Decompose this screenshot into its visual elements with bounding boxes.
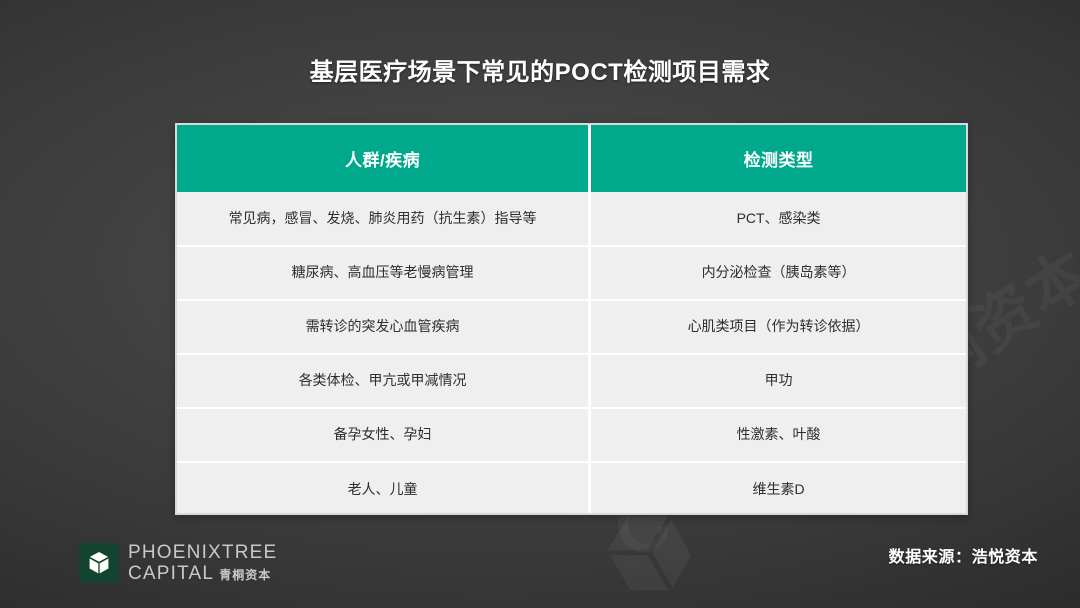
requirements-table: 人群/疾病 检测类型 常见病，感冒、发烧、肺炎用药（抗生素）指导等 PCT、感染… bbox=[175, 123, 968, 515]
cell-testtype: PCT、感染类 bbox=[590, 192, 966, 246]
cell-population: 各类体检、甲亢或甲减情况 bbox=[177, 354, 590, 408]
logo-capital-en: CAPITAL bbox=[128, 564, 214, 583]
column-header-population: 人群/疾病 bbox=[177, 125, 590, 192]
cell-population: 备孕女性、孕妇 bbox=[177, 408, 590, 462]
logo-capital-cn: 青桐资本 bbox=[219, 569, 271, 581]
table-body: 常见病，感冒、发烧、肺炎用药（抗生素）指导等 PCT、感染类 糖尿病、高血压等老… bbox=[177, 192, 966, 515]
logo-line-phoenixtree: PHOENIXTREE bbox=[128, 543, 277, 562]
logo-text: PHOENIXTREE CAPITAL 青桐资本 bbox=[128, 543, 277, 583]
cell-testtype: 内分泌检查（胰岛素等） bbox=[590, 246, 966, 300]
table-row: 需转诊的突发心血管疾病 心肌类项目（作为转诊依据） bbox=[177, 300, 966, 354]
table-row: 常见病，感冒、发烧、肺炎用药（抗生素）指导等 PCT、感染类 bbox=[177, 192, 966, 246]
column-header-testtype: 检测类型 bbox=[590, 125, 966, 192]
table-row: 各类体检、甲亢或甲减情况 甲功 bbox=[177, 354, 966, 408]
logo-line-capital: CAPITAL 青桐资本 bbox=[128, 564, 277, 583]
cell-population: 需转诊的突发心血管疾病 bbox=[177, 300, 590, 354]
slide-canvas: 桐资本 C 基层医疗场景下常见的POCT检测项目需求 人群/疾病 检测类型 常见… bbox=[0, 0, 1080, 608]
table: 人群/疾病 检测类型 常见病，感冒、发烧、肺炎用药（抗生素）指导等 PCT、感染… bbox=[177, 125, 966, 515]
cell-testtype: 心肌类项目（作为转诊依据） bbox=[590, 300, 966, 354]
cell-population: 老人、儿童 bbox=[177, 462, 590, 515]
logo-mark bbox=[79, 543, 119, 583]
cell-testtype: 维生素D bbox=[590, 462, 966, 515]
company-logo: PHOENIXTREE CAPITAL 青桐资本 bbox=[79, 543, 277, 583]
cube-icon bbox=[86, 550, 112, 576]
table-row: 备孕女性、孕妇 性激素、叶酸 bbox=[177, 408, 966, 462]
table-row: 老人、儿童 维生素D bbox=[177, 462, 966, 515]
table-row: 糖尿病、高血压等老慢病管理 内分泌检查（胰岛素等） bbox=[177, 246, 966, 300]
cell-population: 糖尿病、高血压等老慢病管理 bbox=[177, 246, 590, 300]
cell-testtype: 甲功 bbox=[590, 354, 966, 408]
table-head: 人群/疾病 检测类型 bbox=[177, 125, 966, 192]
cell-population: 常见病，感冒、发烧、肺炎用药（抗生素）指导等 bbox=[177, 192, 590, 246]
page-title: 基层医疗场景下常见的POCT检测项目需求 bbox=[0, 52, 1080, 87]
cell-testtype: 性激素、叶酸 bbox=[590, 408, 966, 462]
table-header-row: 人群/疾病 检测类型 bbox=[177, 125, 966, 192]
data-source-note: 数据来源：浩悦资本 bbox=[889, 543, 1038, 567]
